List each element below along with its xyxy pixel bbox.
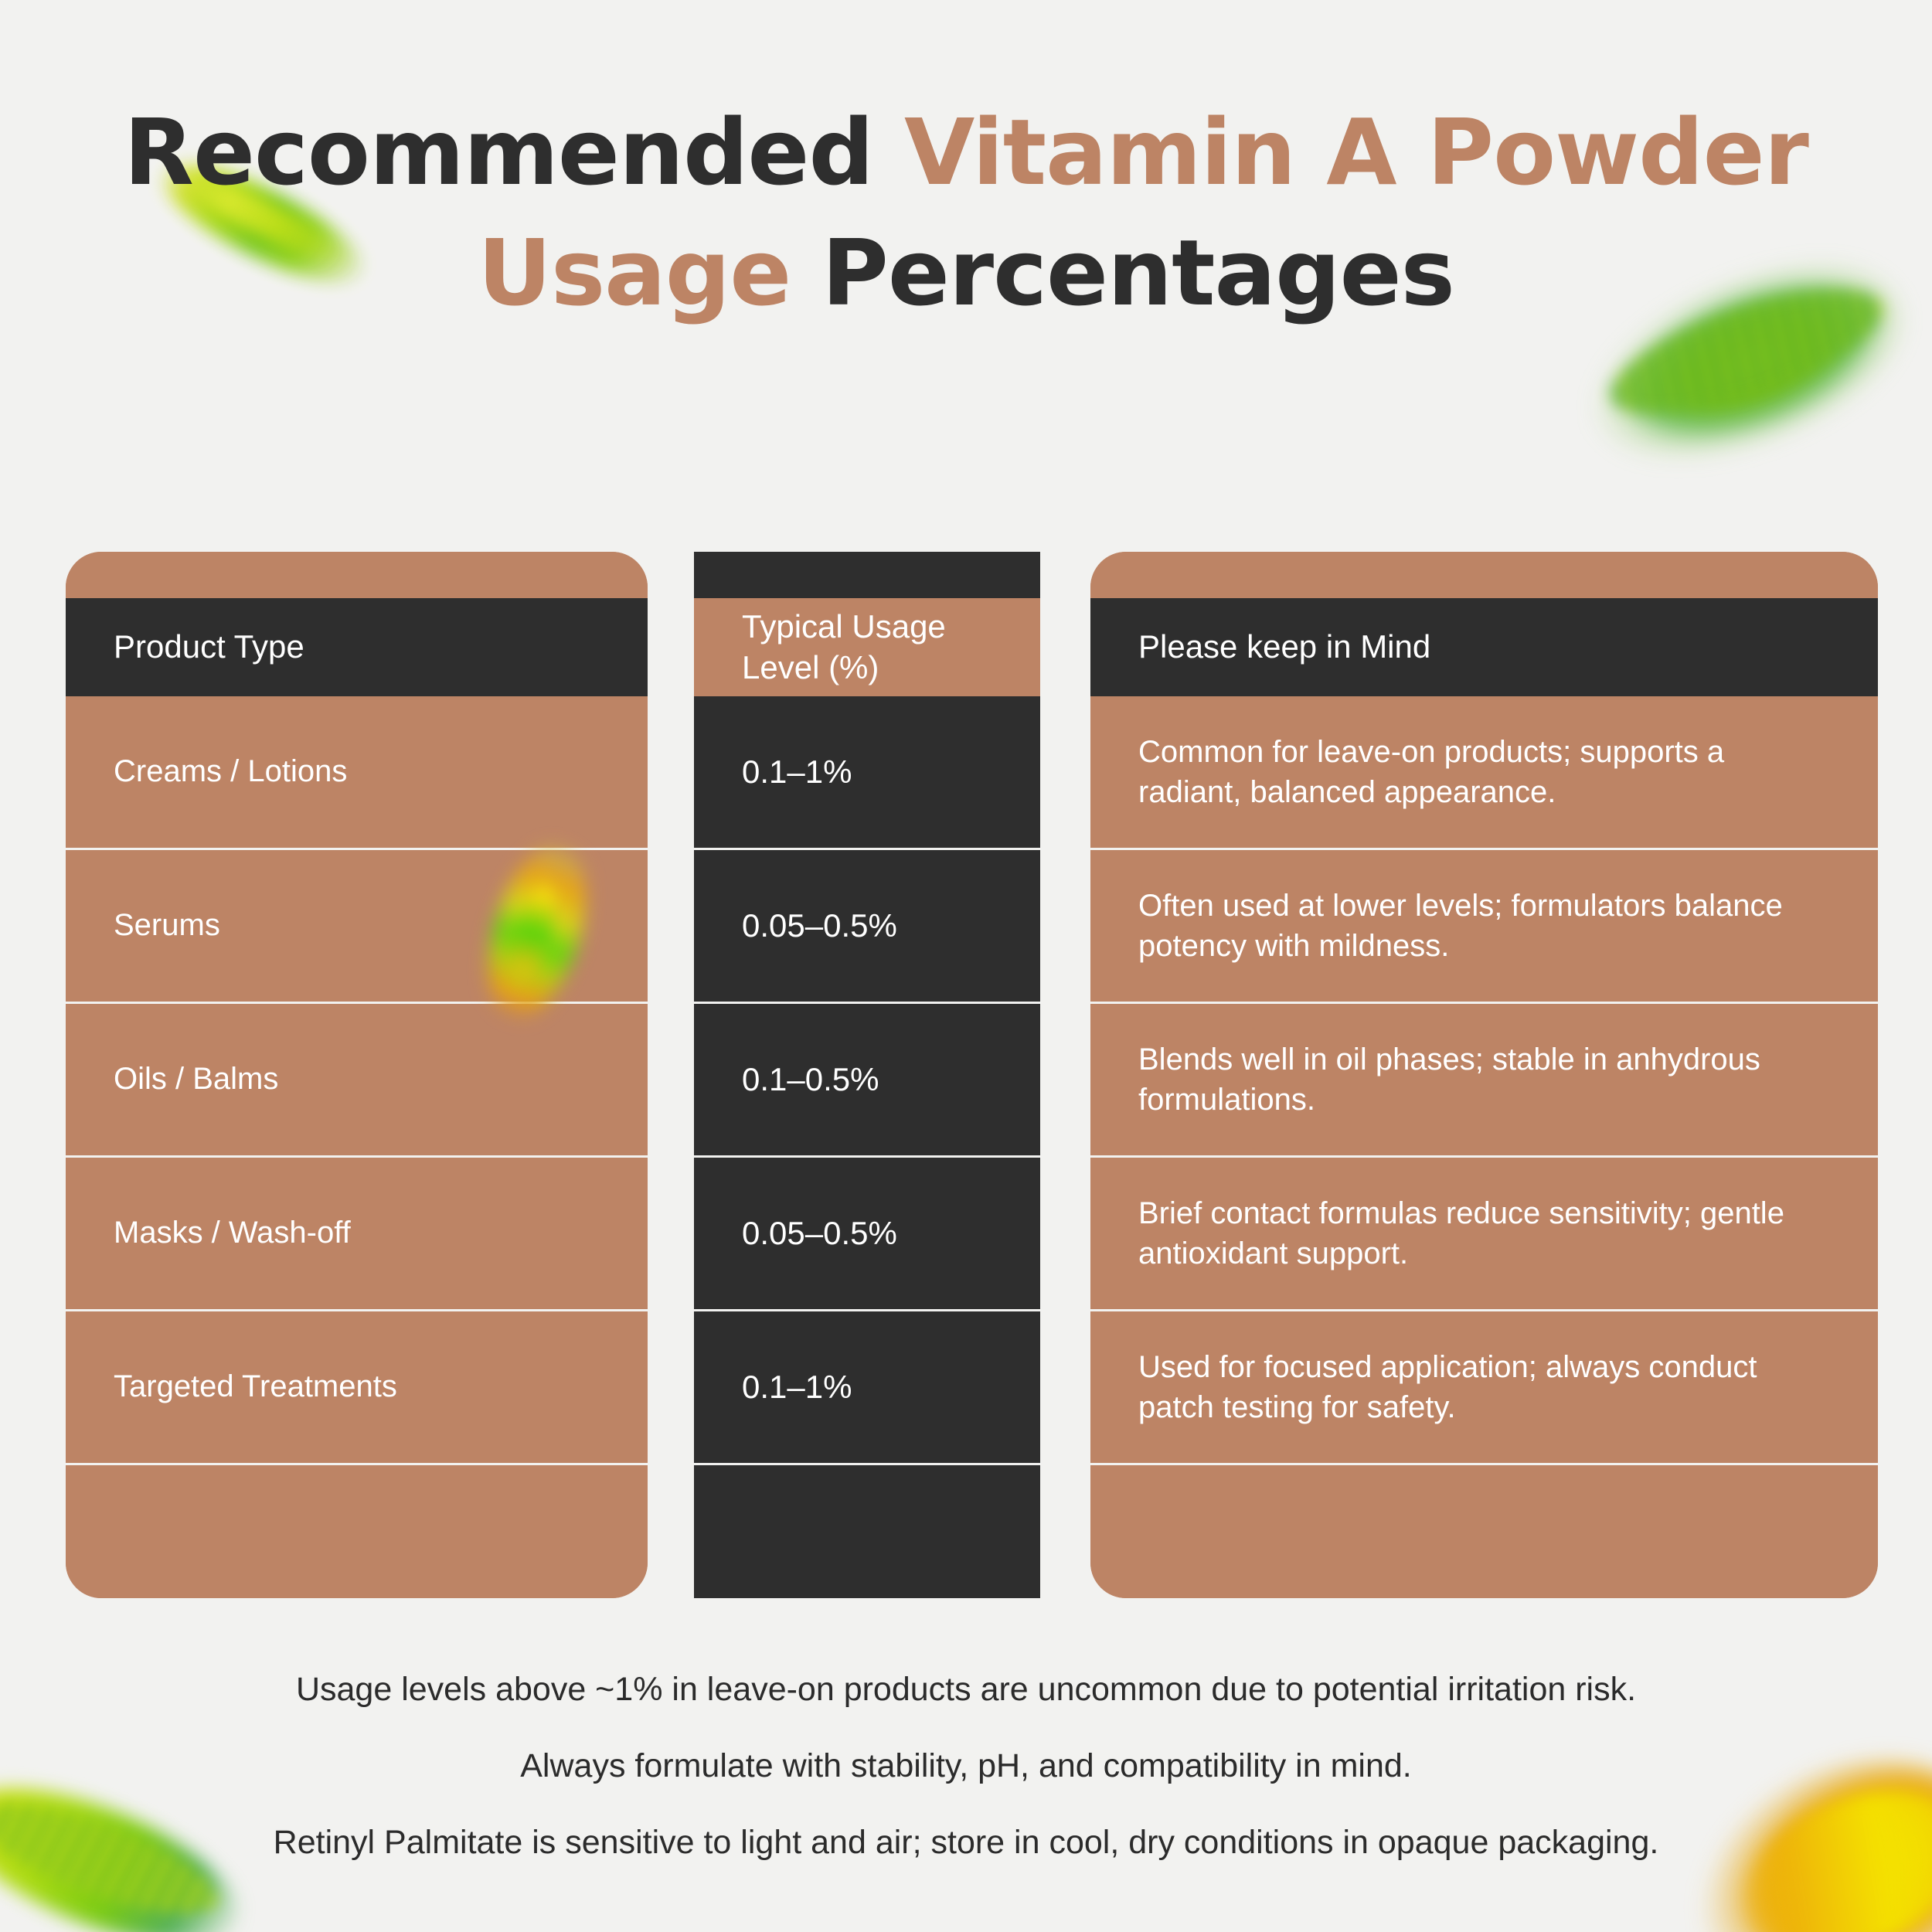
column-bottom-band [1090, 1465, 1878, 1598]
cell-product-type-0: Creams / Lotions [114, 751, 600, 793]
cell-usage-level-3: 0.05–0.5% [742, 1212, 992, 1255]
table-row: Often used at lower levels; formulators … [1090, 850, 1878, 1004]
footer-note-1: Usage levels above ~1% in leave-on produ… [124, 1665, 1808, 1714]
cell-keep-in-mind-1: Often used at lower levels; formulators … [1138, 886, 1830, 966]
cell-usage-level-1: 0.05–0.5% [742, 904, 992, 947]
cell-keep-in-mind-2: Blends well in oil phases; stable in anh… [1138, 1039, 1830, 1120]
table-row: 0.1–0.5% [694, 1004, 1040, 1158]
footer-note-2: Always formulate with stability, pH, and… [124, 1742, 1808, 1791]
table-row: Oils / Balms [66, 1004, 648, 1158]
table-row: 0.05–0.5% [694, 850, 1040, 1004]
page-title-accent-2: Usage [478, 219, 791, 326]
table-header-keep-in-mind-label: Please keep in Mind [1138, 627, 1830, 668]
table-column-product-type: Product Type Creams / Lotions Serums Oil… [66, 552, 648, 1598]
page-title-line-2: Usage Percentages [0, 213, 1932, 334]
table-row: Targeted Treatments [66, 1311, 648, 1465]
cell-keep-in-mind-4: Used for focused application; always con… [1138, 1347, 1830, 1427]
table-row: Blends well in oil phases; stable in anh… [1090, 1004, 1878, 1158]
table-row: Serums [66, 850, 648, 1004]
table-header-usage-level-label: Typical Usage Level (%) [742, 607, 992, 689]
table-row: 0.1–1% [694, 696, 1040, 850]
usage-table: Product Type Creams / Lotions Serums Oil… [66, 552, 1878, 1598]
table-row: 0.05–0.5% [694, 1158, 1040, 1311]
table-header-product-type: Product Type [66, 598, 648, 696]
footer-note-3: Retinyl Palmitate is sensitive to light … [232, 1818, 1700, 1867]
cell-usage-level-4: 0.1–1% [742, 1366, 992, 1409]
cell-product-type-2: Oils / Balms [114, 1059, 600, 1100]
column-top-band [1090, 552, 1878, 598]
column-top-band [694, 552, 1040, 598]
page-title-plain-2: Percentages [791, 219, 1454, 326]
table-header-usage-level: Typical Usage Level (%) [694, 598, 1040, 696]
cell-usage-level-0: 0.1–1% [742, 750, 992, 794]
footer-notes: Usage levels above ~1% in leave-on produ… [0, 1665, 1932, 1866]
table-row: Common for leave-on products; supports a… [1090, 696, 1878, 850]
infographic-canvas: Recommended Vitamin A Powder Usage Perce… [0, 0, 1932, 1932]
page-title-accent-1: Vitamin A Powder [904, 99, 1808, 206]
table-row: Brief contact formulas reduce sensitivit… [1090, 1158, 1878, 1311]
table-row: Creams / Lotions [66, 696, 648, 850]
table-row: Masks / Wash-off [66, 1158, 648, 1311]
table-column-keep-in-mind: Please keep in Mind Common for leave-on … [1090, 552, 1878, 1598]
cell-product-type-3: Masks / Wash-off [114, 1213, 600, 1254]
cell-product-type-1: Serums [114, 905, 600, 947]
table-header-product-type-label: Product Type [114, 627, 600, 668]
column-bottom-band [66, 1465, 648, 1598]
cell-keep-in-mind-3: Brief contact formulas reduce sensitivit… [1138, 1193, 1830, 1274]
cell-product-type-4: Targeted Treatments [114, 1366, 600, 1408]
table-column-usage-level: Typical Usage Level (%) 0.1–1% 0.05–0.5%… [694, 552, 1040, 1598]
column-top-band [66, 552, 648, 598]
cell-keep-in-mind-0: Common for leave-on products; supports a… [1138, 732, 1830, 812]
table-header-keep-in-mind: Please keep in Mind [1090, 598, 1878, 696]
page-title: Recommended Vitamin A Powder Usage Perce… [0, 93, 1932, 334]
table-row: Used for focused application; always con… [1090, 1311, 1878, 1465]
table-row: 0.1–1% [694, 1311, 1040, 1465]
page-title-plain-1: Recommended [124, 99, 904, 206]
column-bottom-band [694, 1465, 1040, 1598]
page-title-line-1: Recommended Vitamin A Powder [0, 93, 1932, 213]
cell-usage-level-2: 0.1–0.5% [742, 1058, 992, 1101]
